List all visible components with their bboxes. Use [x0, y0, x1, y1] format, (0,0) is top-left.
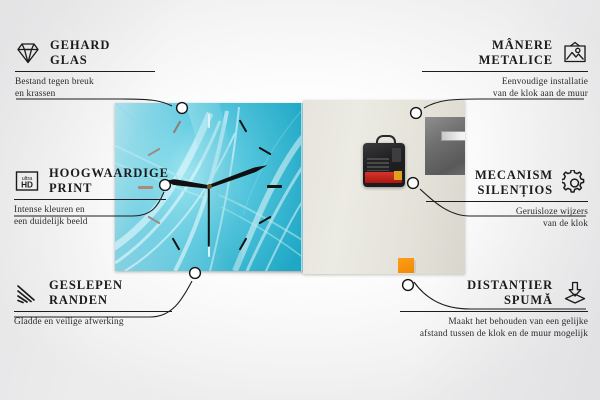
callout-mecanism-silentios-rule	[426, 201, 588, 202]
infographic-canvas: GEHARD GLAS Bestand tegen breuk en krass…	[0, 0, 600, 400]
callout-geslepen-randen-title-2: RANDEN	[49, 293, 123, 308]
beveled-edges-icon	[14, 280, 40, 306]
foam-spacer	[398, 258, 414, 273]
callout-geslepen-randen-rule	[14, 311, 172, 312]
metal-hanger-plate	[425, 117, 465, 175]
callout-hoogwaardige-print-head: ultra HD HOOGWAARDIGE PRINT	[14, 166, 194, 195]
callout-distantier-spuma-rule	[400, 311, 588, 312]
callout-distantier-spuma-sub-2: afstand tussen de klok en de muur mogeli…	[398, 328, 588, 340]
diamond-icon	[15, 40, 41, 66]
callout-distantier-spuma-sub-1: Maakt het behouden van een gelijke	[398, 316, 588, 328]
callout-mecanism-silentios[interactable]: MECANISM SILENȚIOS Geruisloze wijzers va…	[424, 168, 588, 230]
callout-gehard-glas-rule	[15, 71, 155, 72]
callout-distantier-spuma-title-1: DISTANȚIER	[398, 278, 553, 293]
callout-hoogwaardige-print-rule	[14, 199, 166, 200]
movement-button	[392, 148, 401, 162]
callout-manere-metalice[interactable]: MÂNERE METALICE Eenvoudige installatie v…	[420, 38, 588, 100]
callout-manere-metalice-rule	[422, 71, 588, 72]
battery-terminal	[394, 171, 402, 180]
callout-hoogwaardige-print-sub-2: een duidelijk beeld	[14, 216, 194, 228]
callout-geslepen-randen-title-1: GESLEPEN	[49, 278, 123, 293]
hanger-slot	[441, 131, 465, 141]
callout-manere-metalice-title-1: MÂNERE	[479, 38, 553, 53]
callout-geslepen-randen-head: GESLEPEN RANDEN	[14, 278, 204, 307]
spacer-down-arrow-icon	[562, 280, 588, 306]
movement-grill	[367, 158, 389, 171]
callout-gehard-glas[interactable]: GEHARD GLAS Bestand tegen breuk en krass…	[15, 38, 185, 100]
svg-text:HD: HD	[21, 180, 33, 189]
callout-manere-metalice-sub-2: van de klok aan de muur	[420, 88, 588, 100]
callout-gehard-glas-head: GEHARD GLAS	[15, 38, 185, 67]
callout-manere-metalice-sub-1: Eenvoudige installatie	[420, 76, 588, 88]
callout-manere-metalice-title-2: METALICE	[479, 53, 553, 68]
callout-mecanism-silentios-title-1: MECANISM	[475, 168, 553, 183]
callout-distantier-spuma[interactable]: DISTANȚIER SPUMĂ Maakt het behouden van …	[398, 278, 588, 340]
callout-distantier-spuma-head: DISTANȚIER SPUMĂ	[398, 278, 588, 307]
callout-hoogwaardige-print[interactable]: ultra HD HOOGWAARDIGE PRINT Intense kleu…	[14, 166, 194, 228]
callout-gehard-glas-sub-1: Bestand tegen breuk	[15, 76, 185, 88]
callout-gehard-glas-sub-2: en krassen	[15, 88, 185, 100]
callout-gehard-glas-title-1: GEHARD	[50, 38, 110, 53]
callout-geslepen-randen[interactable]: GESLEPEN RANDEN Gladde en veilige afwerk…	[14, 278, 204, 328]
callout-manere-metalice-head: MÂNERE METALICE	[420, 38, 588, 67]
clock-center-pin	[207, 184, 212, 189]
gear-icon	[562, 170, 588, 196]
callout-mecanism-silentios-head: MECANISM SILENȚIOS	[424, 168, 588, 197]
callout-hoogwaardige-print-title-2: PRINT	[49, 181, 169, 196]
callout-geslepen-randen-sub-1: Gladde en veilige afwerking	[14, 316, 204, 328]
clock-tick-3	[267, 185, 282, 188]
callout-hoogwaardige-print-title-1: HOOGWAARDIGE	[49, 166, 169, 181]
callout-hoogwaardige-print-sub-1: Intense kleuren en	[14, 204, 194, 216]
clock-tick-12	[208, 114, 210, 128]
callout-mecanism-silentios-sub-2: van de klok	[424, 218, 588, 230]
callout-gehard-glas-title-2: GLAS	[50, 53, 110, 68]
callout-mecanism-silentios-sub-1: Geruisloze wijzers	[424, 206, 588, 218]
ultra-hd-icon: ultra HD	[14, 168, 40, 194]
picture-frame-hanger-icon	[562, 40, 588, 66]
callout-distantier-spuma-title-2: SPUMĂ	[398, 293, 553, 308]
callout-mecanism-silentios-title-2: SILENȚIOS	[475, 183, 553, 198]
clock-second-hand-bar	[208, 186, 210, 246]
